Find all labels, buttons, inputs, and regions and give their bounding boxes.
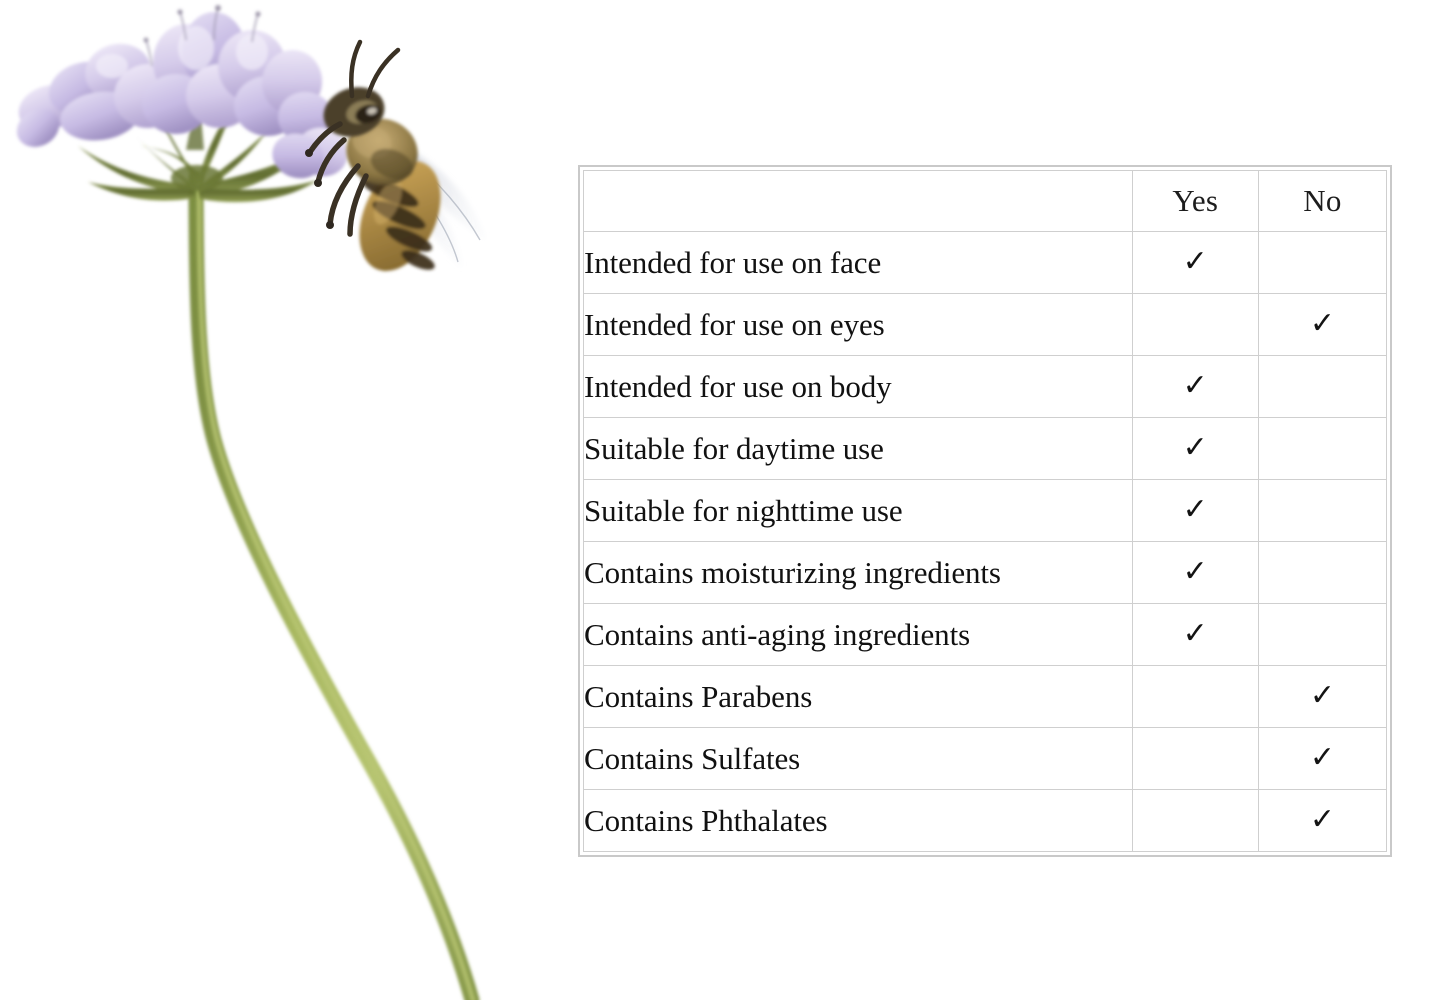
row-label-intended-for-use-on-eyes: Intended for use on eyes	[584, 294, 1133, 356]
row-label-contains-moisturizing-ingredients: Contains moisturizing ingredients	[584, 542, 1133, 604]
cell-no-suitable-for-nighttime-use[interactable]	[1258, 480, 1386, 542]
cell-no-contains-sulfates[interactable]: ✓	[1258, 728, 1386, 790]
product-attributes-table-container: Yes No Intended for use on face ✓ Intend…	[578, 165, 1392, 857]
table-row: Contains Parabens ✓	[584, 666, 1387, 728]
row-label-contains-parabens: Contains Parabens	[584, 666, 1133, 728]
cell-no-suitable-for-daytime-use[interactable]	[1258, 418, 1386, 480]
table-row: Contains anti-aging ingredients ✓	[584, 604, 1387, 666]
row-label-intended-for-use-on-body: Intended for use on body	[584, 356, 1133, 418]
row-label-contains-phthalates: Contains Phthalates	[584, 790, 1133, 852]
cell-no-contains-moisturizing-ingredients[interactable]	[1258, 542, 1386, 604]
cell-yes-contains-parabens[interactable]	[1132, 666, 1258, 728]
check-icon: ✓	[1183, 371, 1208, 401]
table-row: Suitable for nighttime use ✓	[584, 480, 1387, 542]
table-row: Contains Sulfates ✓	[584, 728, 1387, 790]
table-row: Contains moisturizing ingredients ✓	[584, 542, 1387, 604]
cell-no-contains-phthalates[interactable]: ✓	[1258, 790, 1386, 852]
table-row: Intended for use on eyes ✓	[584, 294, 1387, 356]
column-header-attribute	[584, 171, 1133, 232]
check-icon: ✓	[1183, 619, 1208, 649]
check-icon: ✓	[1310, 309, 1335, 339]
check-icon: ✓	[1310, 805, 1335, 835]
table-row: Suitable for daytime use ✓	[584, 418, 1387, 480]
row-label-suitable-for-nighttime-use: Suitable for nighttime use	[584, 480, 1133, 542]
cell-yes-contains-phthalates[interactable]	[1132, 790, 1258, 852]
cell-yes-contains-anti-aging-ingredients[interactable]: ✓	[1132, 604, 1258, 666]
row-label-intended-for-use-on-face: Intended for use on face	[584, 232, 1133, 294]
cell-no-intended-for-use-on-face[interactable]	[1258, 232, 1386, 294]
cell-no-intended-for-use-on-body[interactable]	[1258, 356, 1386, 418]
cell-yes-suitable-for-daytime-use[interactable]: ✓	[1132, 418, 1258, 480]
cell-no-intended-for-use-on-eyes[interactable]: ✓	[1258, 294, 1386, 356]
cell-yes-intended-for-use-on-face[interactable]: ✓	[1132, 232, 1258, 294]
cell-yes-intended-for-use-on-eyes[interactable]	[1132, 294, 1258, 356]
column-header-yes: Yes	[1132, 171, 1258, 232]
cell-yes-intended-for-use-on-body[interactable]: ✓	[1132, 356, 1258, 418]
row-label-suitable-for-daytime-use: Suitable for daytime use	[584, 418, 1133, 480]
check-icon: ✓	[1310, 743, 1335, 773]
table-body: Intended for use on face ✓ Intended for …	[584, 232, 1387, 852]
cell-no-contains-anti-aging-ingredients[interactable]	[1258, 604, 1386, 666]
table-header-row: Yes No	[584, 171, 1387, 232]
row-label-contains-anti-aging-ingredients: Contains anti-aging ingredients	[584, 604, 1133, 666]
check-icon: ✓	[1183, 247, 1208, 277]
check-icon: ✓	[1183, 557, 1208, 587]
flower-with-bee-illustration	[0, 0, 540, 1000]
column-header-no: No	[1258, 171, 1386, 232]
check-icon: ✓	[1310, 681, 1335, 711]
flower-stem	[196, 178, 473, 1000]
page-root: Yes No Intended for use on face ✓ Intend…	[0, 0, 1452, 1000]
cell-yes-contains-sulfates[interactable]	[1132, 728, 1258, 790]
product-attributes-table: Yes No Intended for use on face ✓ Intend…	[583, 170, 1387, 852]
table-row: Contains Phthalates ✓	[584, 790, 1387, 852]
cell-yes-contains-moisturizing-ingredients[interactable]: ✓	[1132, 542, 1258, 604]
check-icon: ✓	[1183, 433, 1208, 463]
cell-yes-suitable-for-nighttime-use[interactable]: ✓	[1132, 480, 1258, 542]
table-row: Intended for use on body ✓	[584, 356, 1387, 418]
table-row: Intended for use on face ✓	[584, 232, 1387, 294]
row-label-contains-sulfates: Contains Sulfates	[584, 728, 1133, 790]
cell-no-contains-parabens[interactable]: ✓	[1258, 666, 1386, 728]
check-icon: ✓	[1183, 495, 1208, 525]
table-header: Yes No	[584, 171, 1387, 232]
